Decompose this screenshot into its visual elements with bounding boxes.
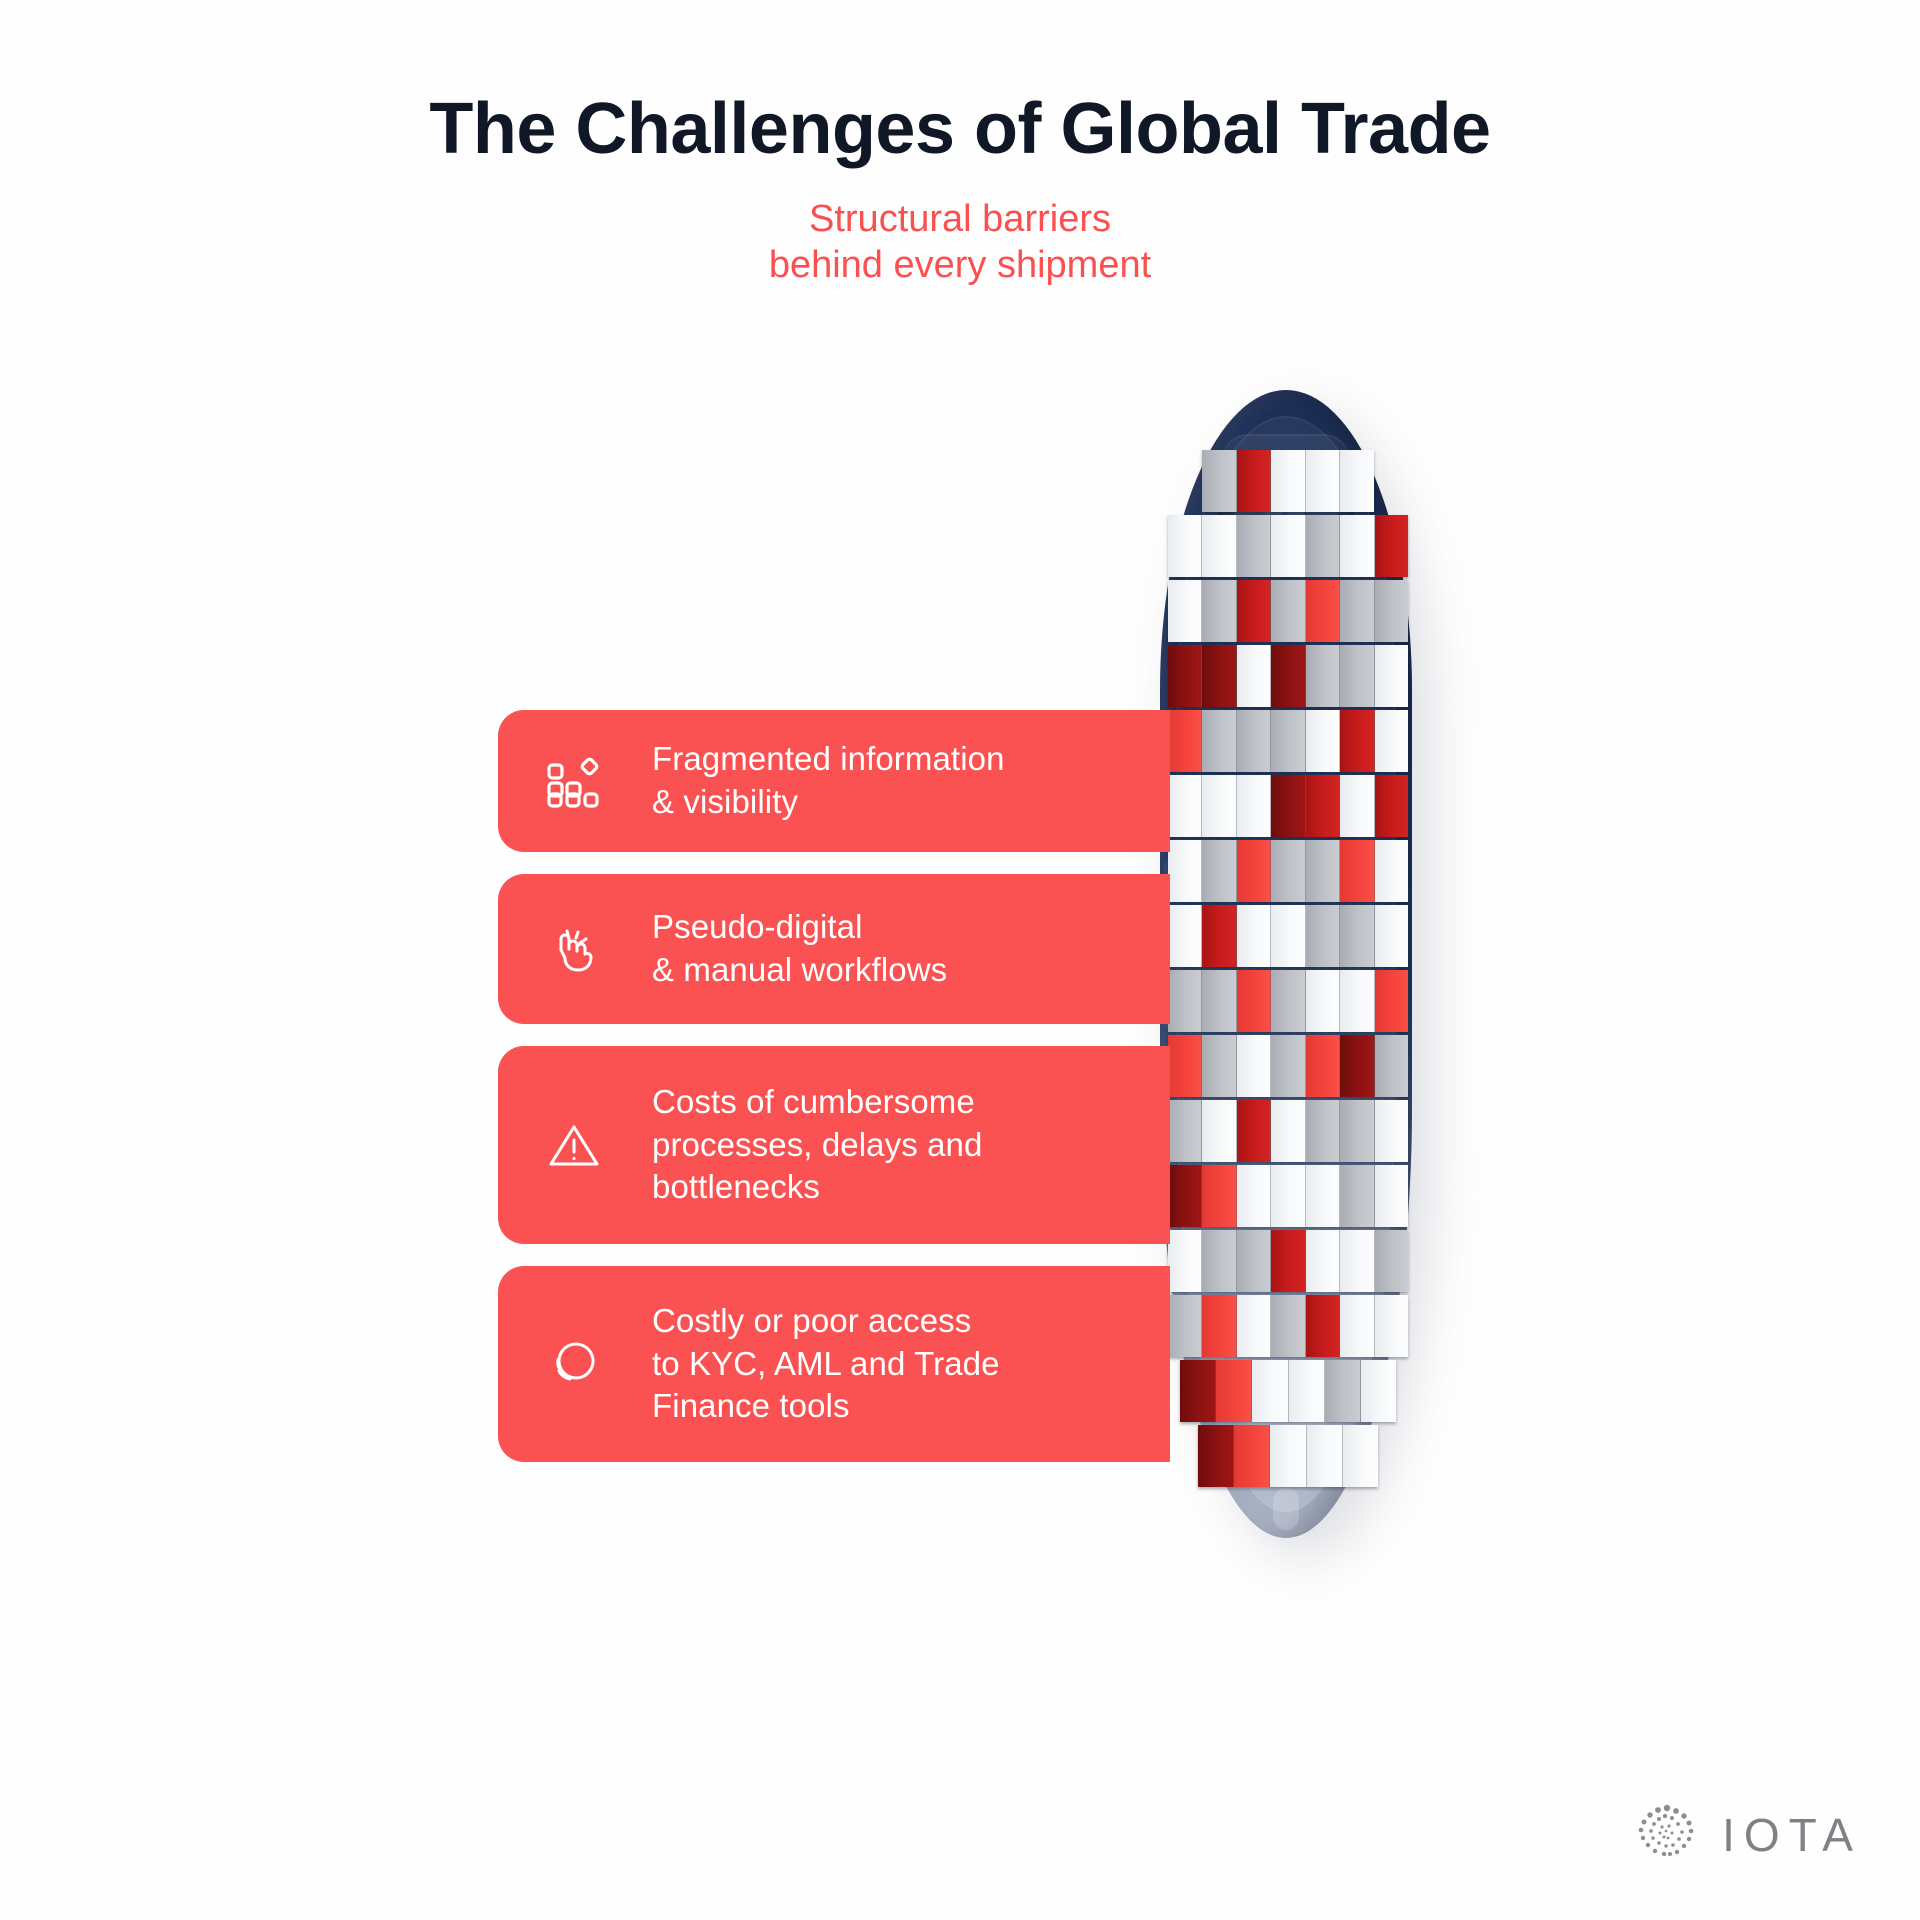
cargo-row: [1168, 580, 1408, 642]
header: The Challenges of Global Trade Structura…: [0, 0, 1920, 288]
cargo-container: [1202, 775, 1236, 837]
cargo-container-stacks: [1168, 450, 1408, 1490]
cargo-container: [1216, 1360, 1252, 1422]
cargo-container: [1271, 905, 1305, 967]
cargo-container: [1168, 1035, 1202, 1097]
cargo-container: [1168, 515, 1202, 577]
cargo-container: [1340, 775, 1374, 837]
cargo-container: [1306, 710, 1340, 772]
cargo-container: [1375, 1035, 1408, 1097]
cargo-row: [1180, 1360, 1396, 1422]
cargo-container: [1237, 905, 1271, 967]
cargo-container: [1168, 1295, 1202, 1357]
cargo-container: [1237, 970, 1271, 1032]
cargo-container: [1271, 1100, 1305, 1162]
challenge-card-label: Costly or poor access to KYC, AML and Tr…: [652, 1300, 1000, 1429]
cargo-container: [1340, 580, 1374, 642]
infographic-canvas: The Challenges of Global Trade Structura…: [0, 0, 1920, 1920]
cargo-container: [1340, 840, 1374, 902]
cargo-container: [1375, 970, 1408, 1032]
cargo-container: [1237, 1295, 1271, 1357]
cargo-container: [1168, 1230, 1202, 1292]
cargo-row: [1198, 1425, 1378, 1487]
cargo-container: [1340, 1165, 1374, 1227]
cargo-container: [1168, 1165, 1202, 1227]
cargo-row: [1168, 515, 1408, 577]
cargo-container: [1375, 645, 1408, 707]
cargo-container: [1202, 1100, 1236, 1162]
cargo-container: [1202, 1295, 1236, 1357]
cargo-container: [1202, 1165, 1236, 1227]
cargo-container: [1202, 1230, 1236, 1292]
cargo-container: [1340, 970, 1374, 1032]
page-subtitle: Structural barriers behind every shipmen…: [0, 196, 1920, 289]
cargo-container: [1271, 450, 1306, 512]
cargo-container: [1375, 775, 1408, 837]
subtitle-line-2: behind every shipment: [769, 244, 1151, 286]
challenge-cards-list: Fragmented information & visibility Pseu…: [498, 710, 1170, 1484]
cargo-container: [1202, 905, 1236, 967]
cargo-container: [1306, 515, 1340, 577]
cargo-container: [1237, 1035, 1271, 1097]
cargo-container: [1361, 1360, 1396, 1422]
cargo-container: [1271, 515, 1305, 577]
cargo-container: [1270, 1425, 1306, 1487]
cargo-container: [1375, 515, 1408, 577]
cargo-container: [1271, 1165, 1305, 1227]
cargo-row: [1168, 840, 1408, 902]
cargo-container: [1340, 515, 1374, 577]
iota-dotted-logo-icon: [1634, 1802, 1700, 1868]
cargo-row: [1168, 1165, 1408, 1227]
cargo-container: [1180, 1360, 1216, 1422]
cargo-container: [1306, 840, 1340, 902]
cargo-container: [1306, 1100, 1340, 1162]
cargo-container: [1375, 1230, 1408, 1292]
cargo-container: [1306, 450, 1341, 512]
cargo-container: [1307, 1425, 1343, 1487]
cargo-container: [1168, 970, 1202, 1032]
cargo-container: [1168, 840, 1202, 902]
cargo-container: [1375, 905, 1408, 967]
cargo-container: [1306, 970, 1340, 1032]
grid-dots-icon: [542, 749, 606, 813]
cargo-container: [1271, 580, 1305, 642]
cargo-container: [1271, 645, 1305, 707]
cargo-container: [1306, 645, 1340, 707]
cargo-container: [1271, 1295, 1305, 1357]
cargo-row: [1168, 645, 1408, 707]
cargo-container: [1234, 1425, 1270, 1487]
cargo-row: [1202, 450, 1374, 512]
cargo-row: [1168, 1295, 1408, 1357]
stacked-coins-icon: [542, 1332, 606, 1396]
cargo-container: [1306, 775, 1340, 837]
cargo-container: [1202, 840, 1236, 902]
cargo-container: [1375, 840, 1408, 902]
challenge-card-label: Fragmented information & visibility: [652, 738, 1005, 824]
cargo-container: [1271, 710, 1305, 772]
cargo-container: [1168, 580, 1202, 642]
cargo-container: [1306, 905, 1340, 967]
iota-logo: IOTA: [1634, 1802, 1862, 1868]
cargo-container: [1306, 1295, 1340, 1357]
cargo-container: [1202, 515, 1236, 577]
cargo-container: [1198, 1425, 1234, 1487]
cargo-row: [1168, 970, 1408, 1032]
cargo-row: [1168, 905, 1408, 967]
bow-detail: [1273, 1488, 1299, 1530]
cargo-container: [1375, 710, 1408, 772]
cargo-container: [1340, 1100, 1374, 1162]
cargo-container: [1343, 1425, 1378, 1487]
cargo-container: [1306, 580, 1340, 642]
cargo-container: [1271, 775, 1305, 837]
cargo-container: [1340, 710, 1374, 772]
cargo-container: [1237, 1165, 1271, 1227]
cargo-container: [1306, 1165, 1340, 1227]
cargo-container: [1237, 1100, 1271, 1162]
cargo-row: [1168, 710, 1408, 772]
cargo-row: [1168, 1230, 1408, 1292]
iota-wordmark: IOTA: [1722, 1808, 1862, 1862]
hand-click-icon: [542, 917, 606, 981]
challenge-card-label: Pseudo-digital & manual workflows: [652, 906, 947, 992]
cargo-container: [1340, 1035, 1374, 1097]
cargo-container: [1375, 1165, 1408, 1227]
cargo-container: [1340, 450, 1374, 512]
page-title: The Challenges of Global Trade: [0, 92, 1920, 168]
cargo-container: [1340, 1230, 1374, 1292]
cargo-container: [1168, 1100, 1202, 1162]
cargo-container: [1306, 1035, 1340, 1097]
cargo-container: [1340, 645, 1374, 707]
cargo-container: [1237, 450, 1272, 512]
cargo-container: [1306, 1230, 1340, 1292]
cargo-container: [1340, 905, 1374, 967]
cargo-container: [1237, 645, 1271, 707]
cargo-container: [1271, 1035, 1305, 1097]
cargo-container: [1271, 970, 1305, 1032]
cargo-container: [1271, 840, 1305, 902]
cargo-container: [1237, 775, 1271, 837]
cargo-container: [1202, 645, 1236, 707]
cargo-container: [1289, 1360, 1325, 1422]
challenge-card-pseudo-digital[interactable]: Pseudo-digital & manual workflows: [498, 874, 1170, 1024]
cargo-container: [1168, 710, 1202, 772]
cargo-container: [1375, 1100, 1408, 1162]
cargo-container: [1325, 1360, 1361, 1422]
cargo-container: [1202, 970, 1236, 1032]
challenge-card-costly-access[interactable]: Costly or poor access to KYC, AML and Tr…: [498, 1266, 1170, 1462]
cargo-row: [1168, 775, 1408, 837]
cargo-row: [1168, 1100, 1408, 1162]
cargo-container: [1202, 710, 1236, 772]
challenge-card-fragmented-information[interactable]: Fragmented information & visibility: [498, 710, 1170, 852]
cargo-container: [1168, 645, 1202, 707]
cargo-container: [1237, 710, 1271, 772]
cargo-container: [1375, 1295, 1408, 1357]
cargo-container: [1340, 1295, 1374, 1357]
subtitle-line-1: Structural barriers: [809, 198, 1111, 240]
cargo-container: [1202, 580, 1236, 642]
challenge-card-label: Costs of cumbersome processes, delays an…: [652, 1081, 982, 1210]
cargo-container: [1271, 1230, 1305, 1292]
cargo-container: [1168, 905, 1202, 967]
challenge-card-costs-cumbersome[interactable]: Costs of cumbersome processes, delays an…: [498, 1046, 1170, 1244]
cargo-container: [1202, 1035, 1236, 1097]
cargo-container: [1237, 840, 1271, 902]
cargo-container: [1237, 580, 1271, 642]
cargo-container: [1237, 515, 1271, 577]
warning-triangle-icon: [542, 1113, 606, 1177]
cargo-container: [1237, 1230, 1271, 1292]
cargo-row: [1168, 1035, 1408, 1097]
cargo-container: [1168, 775, 1202, 837]
cargo-container: [1375, 580, 1408, 642]
cargo-container: [1202, 450, 1237, 512]
cargo-container: [1252, 1360, 1288, 1422]
